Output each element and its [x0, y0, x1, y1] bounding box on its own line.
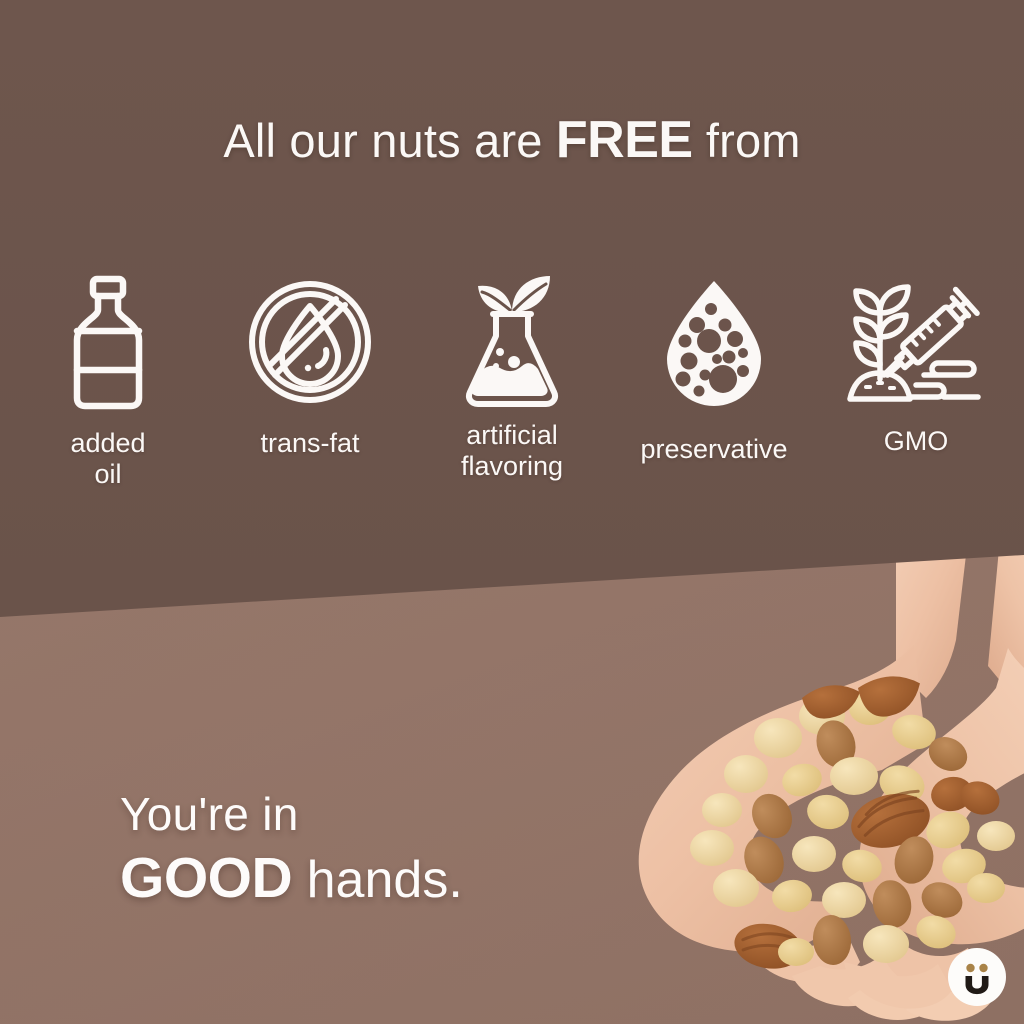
no-trans-fat-icon [246, 272, 374, 412]
tagline-line2-rest: hands. [292, 851, 463, 909]
plant-syringe-icon [846, 272, 986, 412]
headline-emphasis: FREE [556, 111, 693, 169]
free-from-icon-row: addedoil trans-fat [0, 272, 1024, 522]
free-from-label: preservative [640, 434, 787, 465]
oil-bottle-icon [62, 272, 154, 412]
porous-droplet-icon [659, 272, 769, 412]
free-from-item-artificial-flavoring: artificialflavoring [414, 272, 610, 483]
flask-leaf-icon [454, 272, 570, 412]
free-from-label: GMO [884, 426, 949, 457]
page-title: All our nuts are FREE from [0, 112, 1024, 169]
free-from-label: artificialflavoring [461, 420, 563, 483]
headline-part1: All our nuts are [223, 114, 556, 167]
free-from-item-added-oil: addedoil [10, 272, 206, 491]
u-umlaut-mark-icon [957, 957, 997, 997]
brand-logo[interactable] [948, 948, 1006, 1006]
tagline-emphasis: GOOD [120, 846, 292, 910]
headline-part2: from [693, 114, 801, 167]
tagline-line1: You're in [120, 790, 463, 840]
free-from-item-preservative: preservative [616, 272, 812, 465]
free-from-item-trans-fat: trans-fat [212, 272, 408, 459]
free-from-label: addedoil [70, 428, 145, 491]
tagline: You're in GOOD hands. [120, 790, 463, 911]
free-from-item-gmo: GMO [818, 272, 1014, 457]
promotional-poster: All our nuts are FREE from addedoil [0, 0, 1024, 1024]
tagline-line2: GOOD hands. [120, 846, 463, 912]
free-from-label: trans-fat [260, 428, 359, 459]
